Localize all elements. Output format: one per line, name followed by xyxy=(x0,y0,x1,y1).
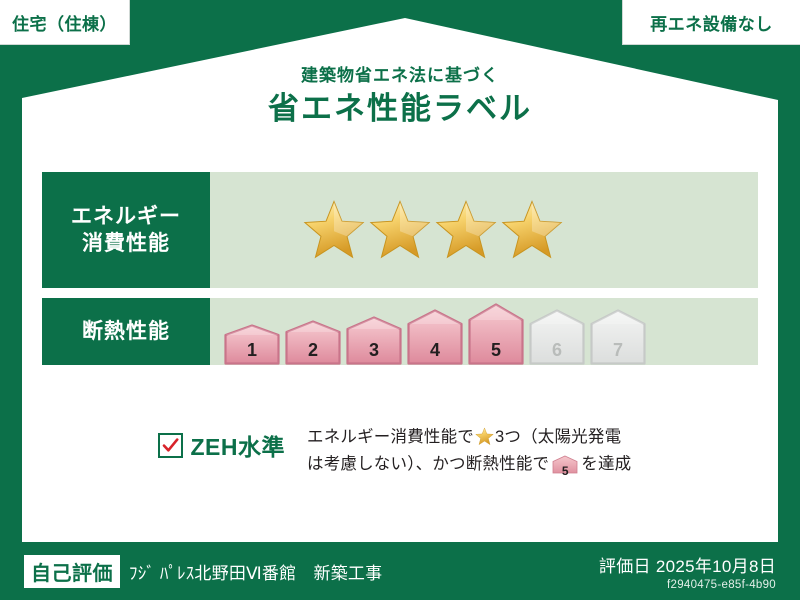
insulation-level-badge: 3 xyxy=(346,316,402,365)
star-icon xyxy=(303,199,365,261)
insulation-level-scale: 1234567 xyxy=(210,298,646,365)
zeh-standard-marker: ZEH水準 xyxy=(42,424,307,462)
house-badge-icon xyxy=(529,309,585,365)
insulation-performance-label: 断熱性能 xyxy=(42,298,210,365)
house-badge-icon xyxy=(346,316,402,365)
document-id: f2940475-e85f-4b90 xyxy=(599,579,776,591)
house-badge-icon xyxy=(224,324,280,365)
house-badge-number: 5 xyxy=(552,462,578,481)
insulation-level-badge: 1 xyxy=(224,324,280,365)
energy-performance-label: エネルギー 消費性能 xyxy=(42,172,210,288)
energy-label-line2: 消費性能 xyxy=(82,230,170,257)
energy-performance-row: エネルギー 消費性能 xyxy=(42,172,758,288)
insulation-level-badge: 7 xyxy=(590,309,646,365)
insulation-level-badge: 4 xyxy=(407,309,463,365)
house-badge-icon xyxy=(468,303,524,365)
insulation-performance-row: 断熱性能 1234567 xyxy=(42,298,758,365)
energy-label-line1: エネルギー xyxy=(71,203,181,230)
zeh-desc-part1: エネルギー消費性能で xyxy=(307,428,474,446)
footer-right-group: 評価日 2025年10月8日 f2940475-e85f-4b90 xyxy=(599,552,776,591)
house-badge-icon xyxy=(407,309,463,365)
insulation-level-badge: 2 xyxy=(285,320,341,365)
insulation-label-text: 断熱性能 xyxy=(82,318,170,345)
evaluation-date: 評価日 2025年10月8日 xyxy=(599,552,776,577)
insulation-level-badge: 6 xyxy=(529,309,585,365)
label-title-block: 建築物省エネ法に基づく 省エネ性能ラベル xyxy=(0,66,800,129)
label-footer: 自己評価 ﾌｼﾞ ﾊﾟﾚｽ北野田Ⅵ番館 新築工事 評価日 2025年10月8日 … xyxy=(0,542,800,600)
star-icon xyxy=(475,427,494,446)
self-evaluation-badge: 自己評価 xyxy=(24,555,120,588)
star-rating xyxy=(210,199,563,261)
page-title: 省エネ性能ラベル xyxy=(0,90,800,129)
zeh-checkbox xyxy=(158,433,183,458)
house-badge-icon: 5 xyxy=(552,455,578,483)
house-badge-icon xyxy=(590,309,646,365)
building-type-tag-label: 住宅（住棟） xyxy=(12,10,117,35)
renewable-energy-tag: 再エネ設備なし xyxy=(622,0,800,45)
insulation-level-badge: 5 xyxy=(468,303,524,365)
star-icon xyxy=(435,199,497,261)
zeh-standard-label: ZEH水準 xyxy=(191,428,286,462)
checkmark-icon xyxy=(161,436,180,455)
building-name: ﾌｼﾞ ﾊﾟﾚｽ北野田Ⅵ番館 新築工事 xyxy=(129,559,382,584)
star-icon xyxy=(501,199,563,261)
insulation-performance-panel: 1234567 xyxy=(210,298,758,365)
house-badge-icon xyxy=(285,320,341,365)
zeh-desc-part3: は考慮しない）、かつ断熱性能で xyxy=(307,455,549,473)
zeh-description-text: エネルギー消費性能で 3つ（太陽光発電 は考慮しない）、かつ断熱性能で xyxy=(307,424,758,482)
title-subtitle: 建築物省エネ法に基づく xyxy=(0,66,800,86)
building-type-tag: 住宅（住棟） xyxy=(0,0,130,45)
zeh-desc-part4: を達成 xyxy=(581,455,631,473)
star-icon xyxy=(369,199,431,261)
zeh-desc-part2: 3つ（太陽光発電 xyxy=(495,428,621,446)
renewable-energy-tag-label: 再エネ設備なし xyxy=(650,10,773,35)
energy-performance-panel xyxy=(210,172,758,288)
zeh-standard-block: ZEH水準 エネルギー消費性能で 3つ（太陽光発電 は考慮しない）、かつ断熱性能… xyxy=(42,424,758,482)
footer-left-group: 自己評価 ﾌｼﾞ ﾊﾟﾚｽ北野田Ⅵ番館 新築工事 xyxy=(24,555,599,588)
